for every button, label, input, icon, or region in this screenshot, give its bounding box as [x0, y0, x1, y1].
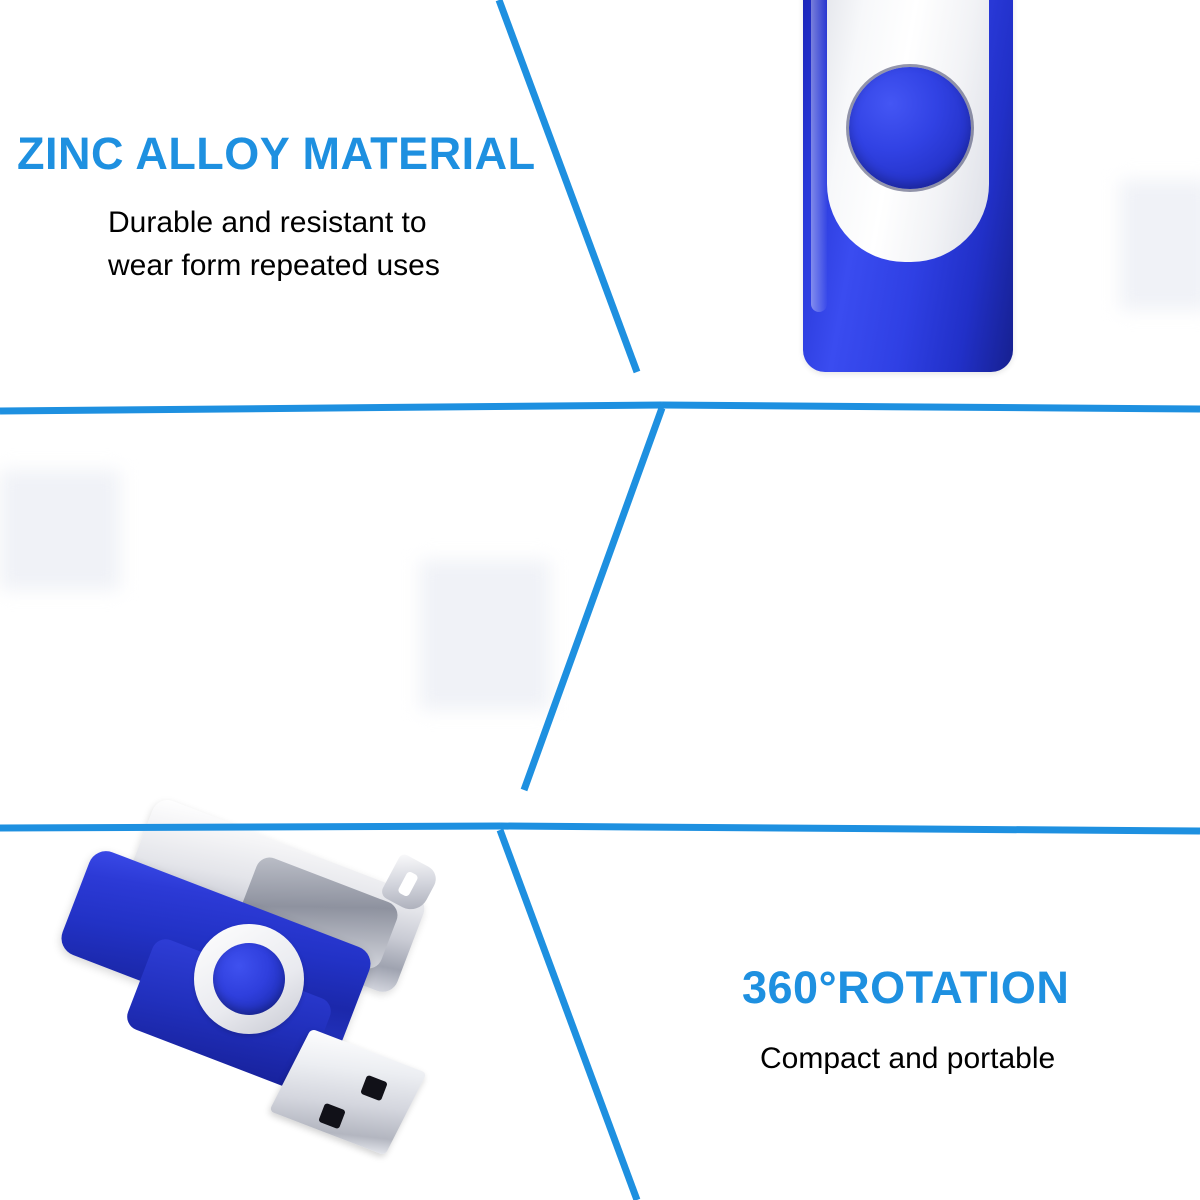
panel-zinc-alloy: ZINC ALLOY MATERIAL Durable and resistan… — [0, 0, 1200, 410]
usb-cap-blue-button — [849, 67, 971, 189]
background-reflection — [420, 560, 550, 710]
background-reflection — [1120, 180, 1200, 310]
usb-swivel-pivot-button — [213, 943, 285, 1015]
panel-rotation: 360°ROTATION Compact and portable — [0, 410, 1200, 830]
usb-swivel-cap-closeup-image — [803, 0, 1013, 372]
panel-zinc-alloy-headline: ZINC ALLOY MATERIAL — [17, 131, 536, 176]
background-reflection — [0, 470, 120, 590]
usb-flash-drive-image — [58, 838, 478, 1188]
panel-zinc-alloy-subtext: Durable and resistant to wear form repea… — [108, 202, 440, 287]
usb-cap-highlight — [811, 0, 827, 312]
product-infographic: ZINC ALLOY MATERIAL Durable and resistan… — [0, 0, 1200, 1200]
